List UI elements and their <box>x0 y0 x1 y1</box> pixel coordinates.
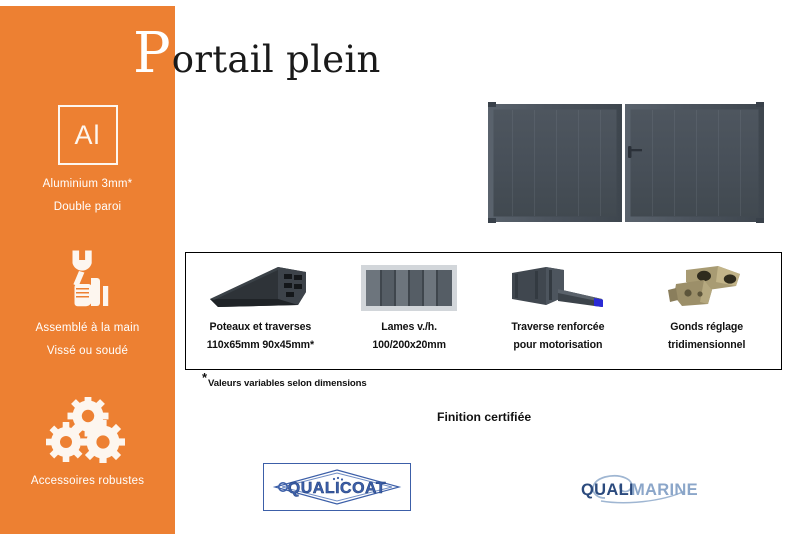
product-item-posts-label2: 110x65mm 90x45mm* <box>207 338 314 352</box>
product-item-posts: Poteaux et traverses 110x65mm 90x45mm* <box>186 253 335 369</box>
product-item-hinge: Gonds réglage tridimensionnel <box>632 253 781 369</box>
wrench-hand-icon <box>0 248 175 310</box>
sidebar-feature-aluminium: Al Aluminium 3mm* Double paroi <box>0 105 175 215</box>
product-item-slats-label2: 100/200x20mm <box>372 338 446 352</box>
sidebar-feature-aluminium-line1: Aluminium 3mm* <box>0 177 175 192</box>
product-strip: Poteaux et traverses 110x65mm 90x45mm* <box>185 252 782 370</box>
product-item-posts-label1: Poteaux et traverses <box>210 320 312 334</box>
sidebar-feature-aluminium-line2: Double paroi <box>0 200 175 215</box>
aluminium-al-box-icon: Al <box>58 105 118 165</box>
page-title-capital: P <box>133 26 171 82</box>
footnote-text: Valeurs variables selon dimensions <box>208 378 367 389</box>
qualicoat-logo: QUALICOAT <box>263 463 411 511</box>
al-badge-text: Al <box>74 122 100 149</box>
reinforced-crossbar-motor-icon <box>502 259 614 317</box>
sidebar-feature-accessories: Accessoires robustes <box>0 397 175 489</box>
post-profile-icon <box>206 259 314 317</box>
product-item-motor-crossbar-label2: pour motorisation <box>513 338 602 352</box>
sidebar-feature-assembly: Assemblé à la main Vissé ou soudé <box>0 248 175 359</box>
slats-panel-icon <box>360 259 458 317</box>
product-item-motor-crossbar-label1: Traverse renforcée <box>511 320 604 334</box>
gears-icon <box>0 397 175 463</box>
sidebar-feature-accessories-line1: Accessoires robustes <box>0 474 175 489</box>
footnote-star: * <box>202 370 207 385</box>
product-item-hinge-label2: tridimensionnel <box>668 338 745 352</box>
qualimarine-logo: QUALI MARINE <box>565 468 705 508</box>
double-leaf-gate-photo <box>472 92 784 223</box>
footnote: *Valeurs variables selon dimensions <box>202 378 367 389</box>
sidebar-feature-assembly-line2: Vissé ou soudé <box>0 344 175 359</box>
page-title-rest: ortail plein <box>172 41 381 78</box>
finition-certifiee-label: Finition certifiée <box>437 410 531 424</box>
page-title: P ortail plein <box>133 26 381 82</box>
product-item-hinge-label1: Gonds réglage <box>670 320 743 334</box>
qualimarine-logo-text-light: MARINE <box>631 481 698 499</box>
product-item-slats-label1: Lames v./h. <box>381 320 437 334</box>
qualicoat-logo-text: QUALICOAT <box>288 480 386 497</box>
product-item-slats: Lames v./h. 100/200x20mm <box>335 253 484 369</box>
adjustable-hinge-icon <box>664 259 750 317</box>
slide-page: Al Aluminium 3mm* Double paroi <box>0 0 800 534</box>
product-item-motor-crossbar: Traverse renforcée pour motorisation <box>484 253 633 369</box>
sidebar-feature-assembly-line1: Assemblé à la main <box>0 321 175 336</box>
qualimarine-logo-text-bold: QUALI <box>581 481 634 499</box>
